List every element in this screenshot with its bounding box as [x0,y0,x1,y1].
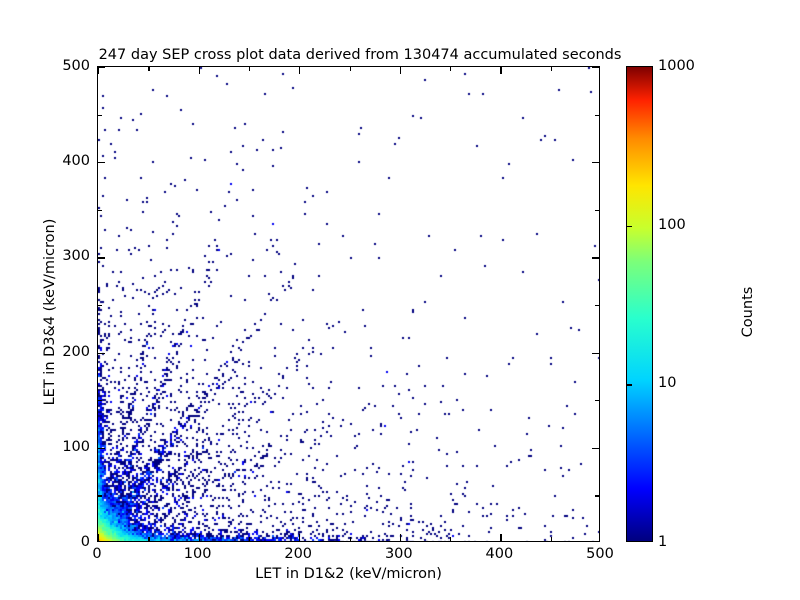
y-tick-right-300 [592,257,599,258]
y-tick-right-500 [592,67,599,68]
colorbar-tick-10 [627,384,632,385]
colorbar-tick-label-100: 100 [658,217,686,233]
y-tick-right-400 [592,162,599,163]
colorbar [626,66,653,542]
y-tick-label-0: 0 [0,534,90,550]
y-tick-500 [98,67,105,68]
y-minortick-right-150 [595,400,599,401]
y-minortick-50 [98,495,102,496]
y-minortick-150 [98,400,102,401]
y-tick-label-500: 500 [0,58,90,74]
y-minortick-450 [98,115,102,116]
colorbar-tick-label-1: 1 [658,534,667,550]
x-tick-400 [500,534,501,541]
figure-canvas: 247 day SEP cross plot data derived from… [0,0,800,600]
x-tick-300 [400,534,401,541]
y-minortick-250 [98,305,102,306]
x-tick-top-400 [500,67,501,74]
x-minortick-top-350 [450,67,451,71]
y-tick-400 [98,162,105,163]
colorbar-tick-label-1000: 1000 [658,58,695,74]
x-tick-label-100: 100 [184,546,212,562]
colorbar-label: Counts [740,192,756,432]
x-minortick-top-150 [249,67,250,71]
x-tick-top-200 [299,67,300,74]
plot-area [97,66,600,542]
y-tick-right-100 [592,448,599,449]
colorbar-tick-label-10: 10 [658,375,676,391]
x-tick-label-0: 0 [92,546,101,562]
x-tick-top-100 [199,67,200,74]
y-minortick-right-450 [595,115,599,116]
x-tick-100 [199,534,200,541]
colorbar-gradient [627,67,652,541]
y-minortick-350 [98,210,102,211]
chart-title-line-1: 247 day SEP cross plot data derived from… [0,46,720,65]
x-tick-label-200: 200 [284,546,312,562]
x-tick-top-300 [400,67,401,74]
x-minortick-top-450 [551,67,552,71]
x-minortick-top-50 [148,67,149,71]
x-minortick-350 [450,537,451,541]
x-minortick-50 [148,537,149,541]
x-axis-label: LET in D1&2 (keV/micron) [97,566,600,582]
x-tick-label-400: 400 [486,546,514,562]
x-minortick-450 [551,537,552,541]
x-minortick-top-250 [350,67,351,71]
y-minortick-right-250 [595,305,599,306]
y-minortick-right-350 [595,210,599,211]
y-axis-label: LET in D3&4 (keV/micron) [42,162,58,462]
x-tick-0 [98,534,99,541]
x-tick-label-500: 500 [586,546,614,562]
y-tick-300 [98,257,105,258]
colorbar-tick-100 [627,226,632,227]
x-tick-label-300: 300 [385,546,413,562]
x-tick-200 [299,534,300,541]
scatter-density-plot [98,67,600,542]
y-tick-100 [98,448,105,449]
x-minortick-150 [249,537,250,541]
y-tick-200 [98,353,105,354]
x-minortick-250 [350,537,351,541]
y-tick-right-200 [592,353,599,354]
y-minortick-right-50 [595,495,599,496]
